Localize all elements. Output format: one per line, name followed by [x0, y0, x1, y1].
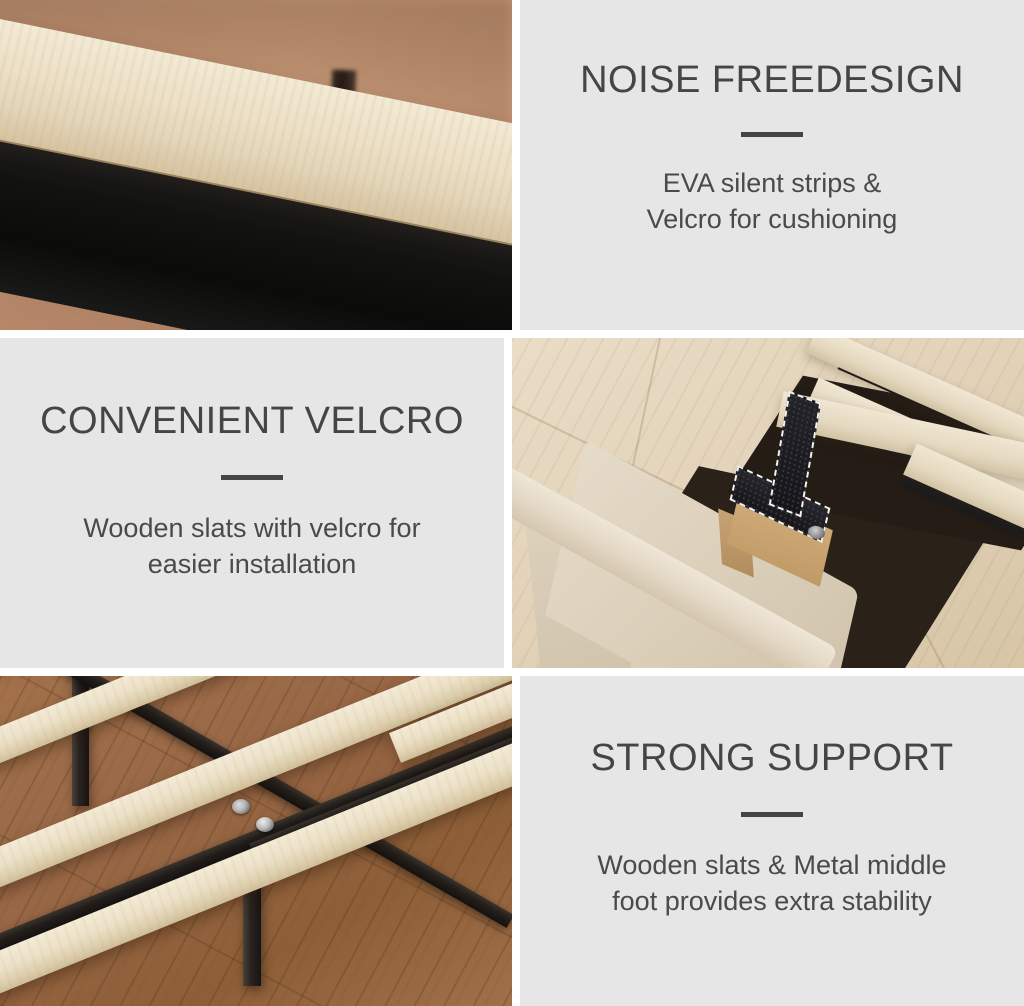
text-panel-strong-support: STRONG SUPPORT Wooden slats & Metal midd… [520, 676, 1024, 1006]
headline-strong-support: STRONG SUPPORT [590, 738, 953, 780]
divider-rule [741, 132, 803, 137]
subcopy-line-1: EVA silent strips & [647, 165, 898, 201]
subcopy-line-2: foot provides extra stability [597, 883, 946, 919]
subcopy-line-1: Wooden slats & Metal middle [597, 847, 946, 883]
subcopy-noise-free-design: EVA silent strips & Velcro for cushionin… [647, 165, 898, 237]
subcopy-line-1: Wooden slats with velcro for [83, 510, 420, 546]
photo-strong-support [0, 676, 512, 1006]
photo-convenient-velcro [512, 338, 1024, 668]
headline-noise-free-design: NOISE FREEDESIGN [580, 60, 964, 102]
subcopy-line-2: easier installation [83, 546, 420, 582]
headline-convenient-velcro: CONVENIENT VELCRO [40, 401, 464, 443]
feature-grid: NOISE FREEDESIGN EVA silent strips & Vel… [0, 0, 1024, 1006]
bolt-head [256, 817, 274, 832]
divider-rule [221, 475, 283, 480]
text-panel-convenient-velcro: CONVENIENT VELCRO Wooden slats with velc… [0, 338, 504, 668]
bolt-head [232, 799, 250, 814]
divider-rule [741, 812, 803, 817]
text-panel-noise-free-design: NOISE FREEDESIGN EVA silent strips & Vel… [520, 0, 1024, 330]
subcopy-line-2: Velcro for cushioning [647, 201, 898, 237]
subcopy-strong-support: Wooden slats & Metal middle foot provide… [597, 847, 946, 919]
subcopy-convenient-velcro: Wooden slats with velcro for easier inst… [83, 510, 420, 582]
photo-noise-free-design [0, 0, 512, 330]
